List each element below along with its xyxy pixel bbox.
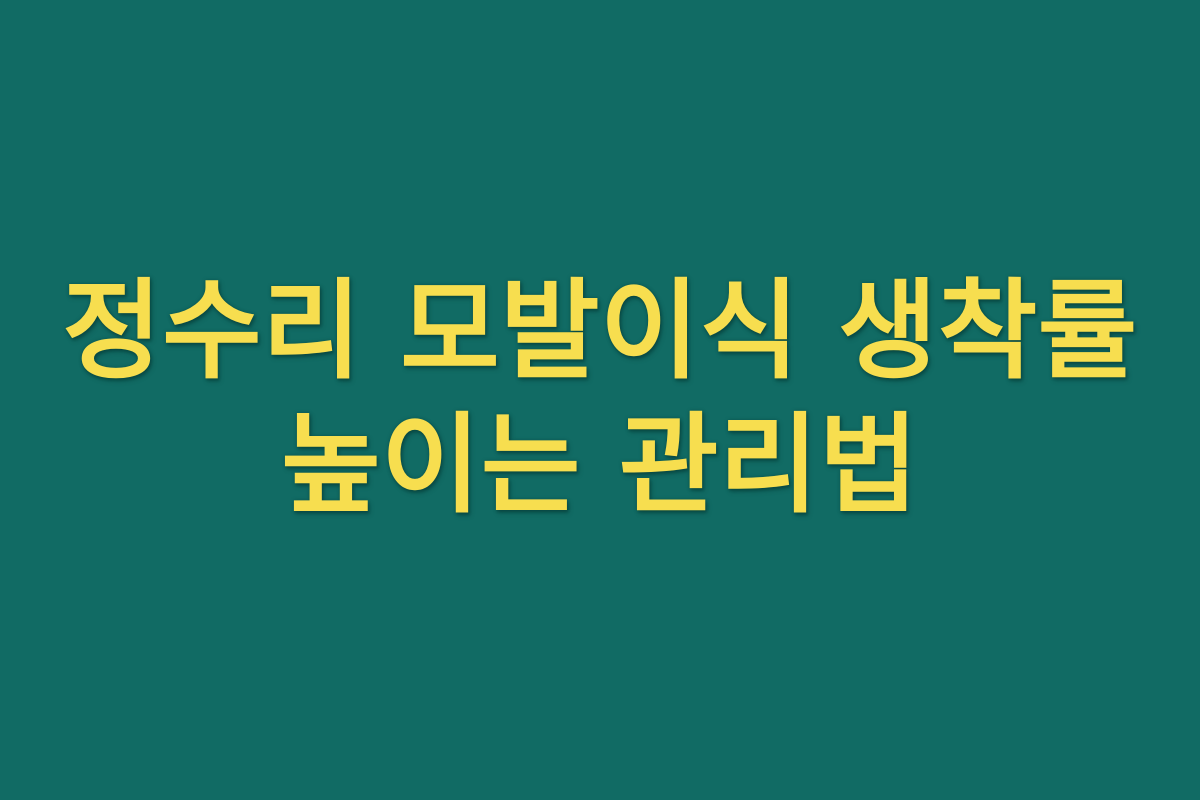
title-block: 정수리 모발이식 생착률 높이는 관리법 xyxy=(0,265,1200,533)
title-line-2: 높이는 관리법 xyxy=(40,399,1160,533)
title-banner: 정수리 모발이식 생착률 높이는 관리법 xyxy=(0,0,1200,800)
title-line-1: 정수리 모발이식 생착률 xyxy=(40,265,1160,399)
